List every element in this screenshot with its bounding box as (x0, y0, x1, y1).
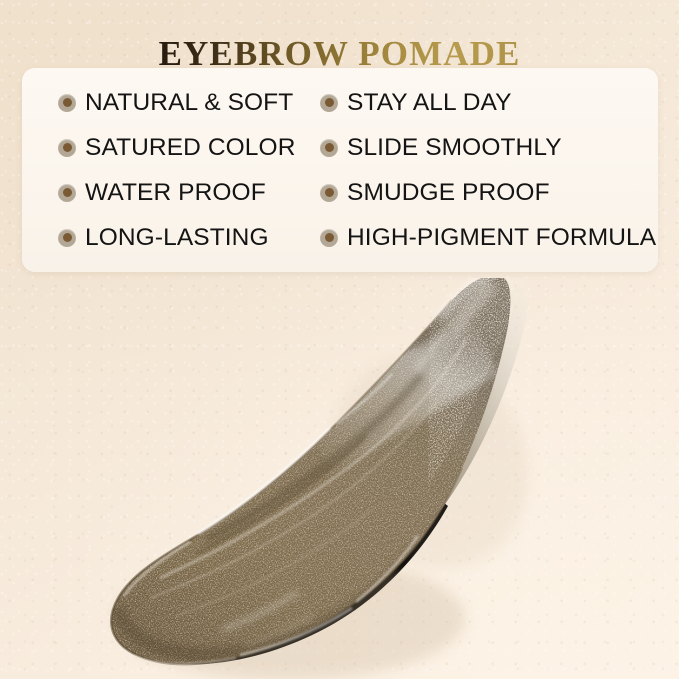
feature-item-label: SLIDE SMOOTHLY (347, 134, 562, 162)
filled-circle-bullet-icon (320, 184, 338, 202)
feature-column-right: STAY ALL DAY SLIDE SMOOTHLY SMUDGE PROOF… (320, 80, 650, 260)
filled-circle-bullet-icon (320, 229, 338, 247)
feature-item-slide-smoothly: SLIDE SMOOTHLY (320, 127, 650, 169)
feature-item-water-proof: WATER PROOF (58, 172, 320, 214)
filled-circle-bullet-icon (320, 94, 338, 112)
filled-circle-bullet-icon (58, 184, 76, 202)
feature-item-label: LONG-LASTING (85, 224, 269, 252)
feature-item-label: SMUDGE PROOF (347, 179, 550, 207)
feature-item-smudge-proof: SMUDGE PROOF (320, 172, 650, 214)
feature-item-label: WATER PROOF (85, 179, 266, 207)
feature-item-label: SATURED COLOR (85, 134, 295, 162)
feature-item-label: HIGH-PIGMENT FORMULA (347, 224, 656, 252)
feature-item-natural-and-soft: NATURAL & SOFT (58, 82, 320, 124)
filled-circle-bullet-icon (58, 94, 76, 112)
feature-item-label: STAY ALL DAY (347, 89, 512, 117)
feature-column-left: NATURAL & SOFT SATURED COLOR WATER PROOF… (58, 80, 320, 260)
filled-circle-bullet-icon (58, 229, 76, 247)
feature-item-long-lasting: LONG-LASTING (58, 217, 320, 259)
feature-item-label: NATURAL & SOFT (85, 89, 293, 117)
product-swatch-area (0, 278, 679, 679)
pomade-swatch (0, 278, 679, 679)
product-feature-graphic: EYEBROW POMADE NATURAL & SOFT SATURED CO… (0, 0, 679, 679)
feature-item-satured-color: SATURED COLOR (58, 127, 320, 169)
filled-circle-bullet-icon (58, 139, 76, 157)
feature-item-high-pigment-formula: HIGH-PIGMENT FORMULA (320, 217, 650, 259)
feature-item-stay-all-day: STAY ALL DAY (320, 82, 650, 124)
filled-circle-bullet-icon (320, 139, 338, 157)
feature-list-card: NATURAL & SOFT SATURED COLOR WATER PROOF… (22, 68, 658, 272)
